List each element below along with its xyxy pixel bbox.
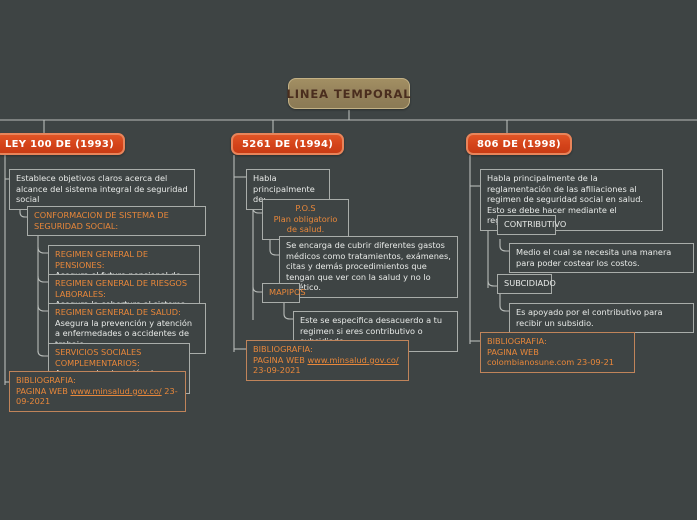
bibliography-806[interactable]: BIBLIOGRAFIA: PAGINA WEB colombianosune.… [480, 332, 635, 373]
node-heading: REGIMEN GENERAL DE SALUD: [55, 307, 199, 318]
node-heading: REGIMEN GENERAL DE RIESGOS LABORALES: [55, 278, 193, 299]
node-text: Es apoyado por el contributivo para reci… [516, 307, 687, 328]
node-text: Plan obligatorio de salud. [269, 214, 342, 235]
branch-heading-label: 806 DE (1998) [477, 139, 561, 150]
bibliography-label: BIBLIOGRAFIA: [16, 375, 179, 386]
bibliography-line: PAGINA WEB www.minsalud.gov.co/ 23-09-20… [253, 355, 402, 376]
bibliography-prefix: PAGINA WEB [253, 355, 307, 365]
branch-heading-5261-1994[interactable]: 5261 DE (1994) [231, 133, 344, 155]
node-heading: P.O.S [269, 203, 342, 214]
bibliography-prefix: PAGINA WEB [16, 386, 70, 396]
node-pos-detalle[interactable]: Se encarga de cubrir diferentes gastos m… [279, 236, 458, 298]
node-contributivo-detalle[interactable]: Medio el cual se necesita una manera par… [509, 243, 694, 273]
node-heading: CONFORMACION DE SISTEMA DE SEGURIDAD SOC… [34, 210, 199, 231]
node-text: Se encarga de cubrir diferentes gastos m… [286, 240, 451, 293]
node-heading: CONTRIBUTIVO [504, 219, 549, 230]
bibliography-5261[interactable]: BIBLIOGRAFIA: PAGINA WEB www.minsalud.go… [246, 340, 409, 381]
bibliography-line: PAGINA WEB colombianosune.com 23-09-21 [487, 347, 628, 368]
bibliography-line: PAGINA WEB www.minsalud.gov.co/ 23-09-20… [16, 386, 179, 407]
node-heading: REGIMEN GENERAL DE PENSIONES: [55, 249, 193, 270]
mindmap-canvas: LINEA TEMPORAL LEY 100 DE (1993) 5261 DE… [0, 0, 697, 520]
branch-heading-ley-100-1993[interactable]: LEY 100 DE (1993) [0, 133, 125, 155]
node-heading: MAPIPOS [269, 287, 293, 298]
node-subcidiado-detalle[interactable]: Es apoyado por el contributivo para reci… [509, 303, 694, 333]
bibliography-link[interactable]: www.minsalud.gov.co/ [307, 355, 398, 365]
bibliography-link[interactable]: colombianosune.com [487, 357, 574, 367]
bibliography-prefix: PAGINA WEB [487, 347, 539, 357]
node-intro-ley100[interactable]: Establece objetivos claros acerca del al… [9, 169, 195, 210]
node-heading: SERVICIOS SOCIALES COMPLEMENTARIOS: [55, 347, 183, 368]
bibliography-link[interactable]: www.minsalud.gov.co/ [70, 386, 161, 396]
bibliography-label: BIBLIOGRAFIA: [253, 344, 402, 355]
node-mapipos[interactable]: MAPIPOS [262, 283, 300, 303]
bibliography-date: 23-09-2021 [253, 365, 301, 375]
branch-heading-label: LEY 100 DE (1993) [5, 139, 114, 150]
node-heading: SUBCIDIADO [504, 278, 545, 289]
branch-heading-label: 5261 DE (1994) [242, 139, 333, 150]
bibliography-ley100[interactable]: BIBLIOGRAFIA: PAGINA WEB www.minsalud.go… [9, 371, 186, 412]
node-text: Medio el cual se necesita una manera par… [516, 247, 687, 268]
node-pos[interactable]: P.O.S Plan obligatorio de salud. [262, 199, 349, 240]
node-contributivo[interactable]: CONTRIBUTIVO [497, 215, 556, 235]
bibliography-label: BIBLIOGRAFIA: [487, 336, 628, 347]
page-title-label: LINEA TEMPORAL [286, 87, 411, 101]
branch-heading-806-1998[interactable]: 806 DE (1998) [466, 133, 572, 155]
bibliography-date: 23-09-21 [574, 357, 614, 367]
node-subcidiado[interactable]: SUBCIDIADO [497, 274, 552, 294]
node-conformacion[interactable]: CONFORMACION DE SISTEMA DE SEGURIDAD SOC… [27, 206, 206, 236]
page-title: LINEA TEMPORAL [288, 78, 410, 109]
node-text: Establece objetivos claros acerca del al… [16, 173, 188, 205]
